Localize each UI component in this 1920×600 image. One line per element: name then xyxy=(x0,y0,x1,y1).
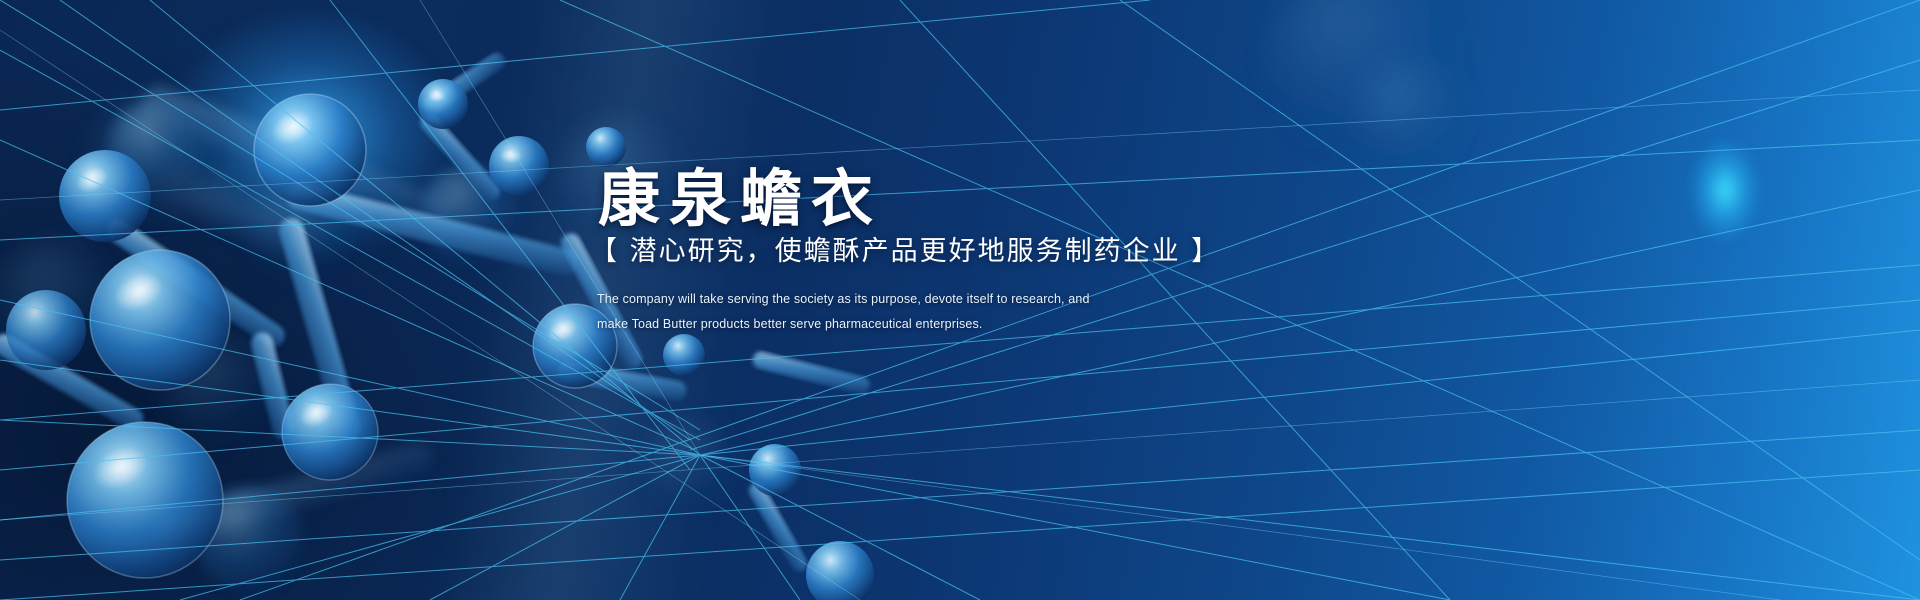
hero-banner: 康泉蟾衣 【 潜心研究，使蟾酥产品更好地服务制药企业 】 The company… xyxy=(0,0,1920,600)
molecular-structure-graphic xyxy=(0,0,1920,600)
